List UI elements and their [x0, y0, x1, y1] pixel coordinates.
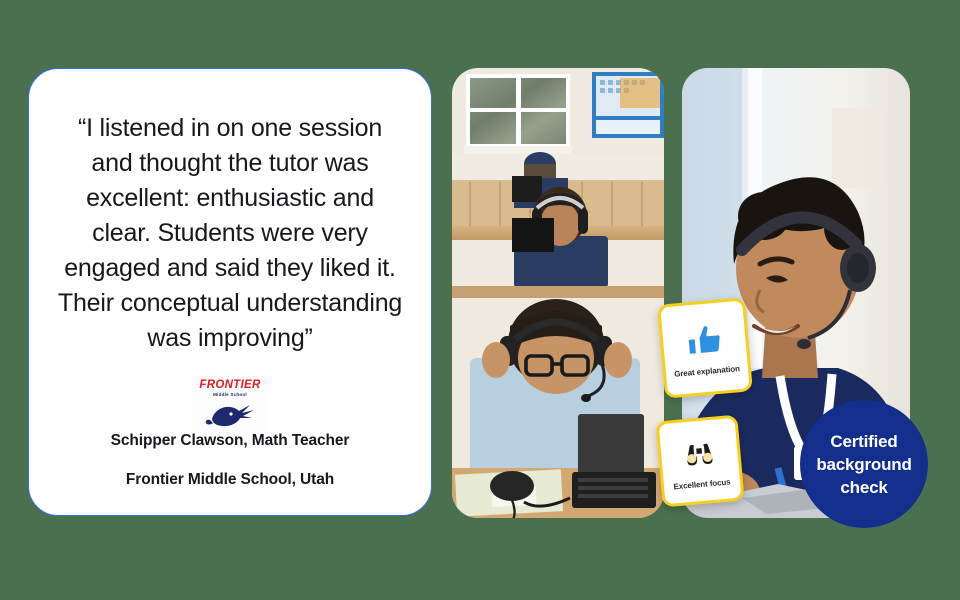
certified-line-2: background: [816, 453, 911, 476]
thumbs-up-icon: [683, 318, 726, 361]
binoculars-icon: [678, 431, 721, 474]
frontier-middle-school-logo: FRONTIER Middle School: [193, 376, 267, 432]
certified-badge-text: Certified background check: [816, 430, 911, 499]
badge-card-excellent-focus[interactable]: Excellent focus: [655, 415, 744, 508]
badge-label: Excellent focus: [673, 477, 731, 491]
testimonial-banner: “I listened in on one session and though…: [0, 0, 960, 600]
classroom-students-photo: [452, 68, 664, 518]
attribution: Schipper Clawson, Math Teacher Frontier …: [55, 432, 405, 489]
certified-line-3: check: [816, 476, 911, 499]
quote-text: “I listened in on one session and though…: [55, 111, 405, 356]
certified-background-check-badge: Certified background check: [800, 400, 928, 528]
certified-line-1: Certified: [816, 430, 911, 453]
author-name: Schipper Clawson, Math Teacher: [55, 432, 405, 450]
mustang-head-icon: [204, 399, 256, 429]
testimonial-card: “I listened in on one session and though…: [28, 68, 432, 516]
logo-wordmark: FRONTIER: [199, 379, 260, 391]
logo-subtext: Middle School: [213, 391, 247, 398]
classroom-photo-art: [452, 68, 664, 518]
badge-card-great-explanation[interactable]: Great explanation: [657, 297, 753, 398]
author-place: Frontier Middle School, Utah: [55, 471, 405, 489]
badge-label: Great explanation: [674, 364, 740, 379]
